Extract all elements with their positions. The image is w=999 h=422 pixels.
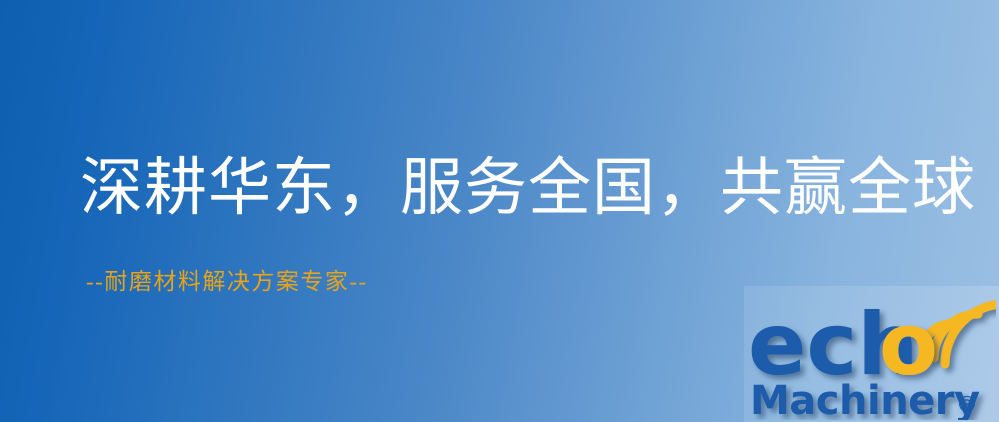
hero-banner: 深耕华东，服务全国，共赢全球 --耐磨材料解决方案专家-- ech o [0,0,999,422]
logo-tagline: Machinery [750,378,980,420]
page-title: 深耕华东，服务全国，共赢全球 [80,148,950,228]
page-subtitle: --耐磨材料解决方案专家-- [86,266,368,298]
registered-trademark-icon: ® [956,393,978,418]
company-logo[interactable]: ech o Machinery ® [748,292,996,420]
